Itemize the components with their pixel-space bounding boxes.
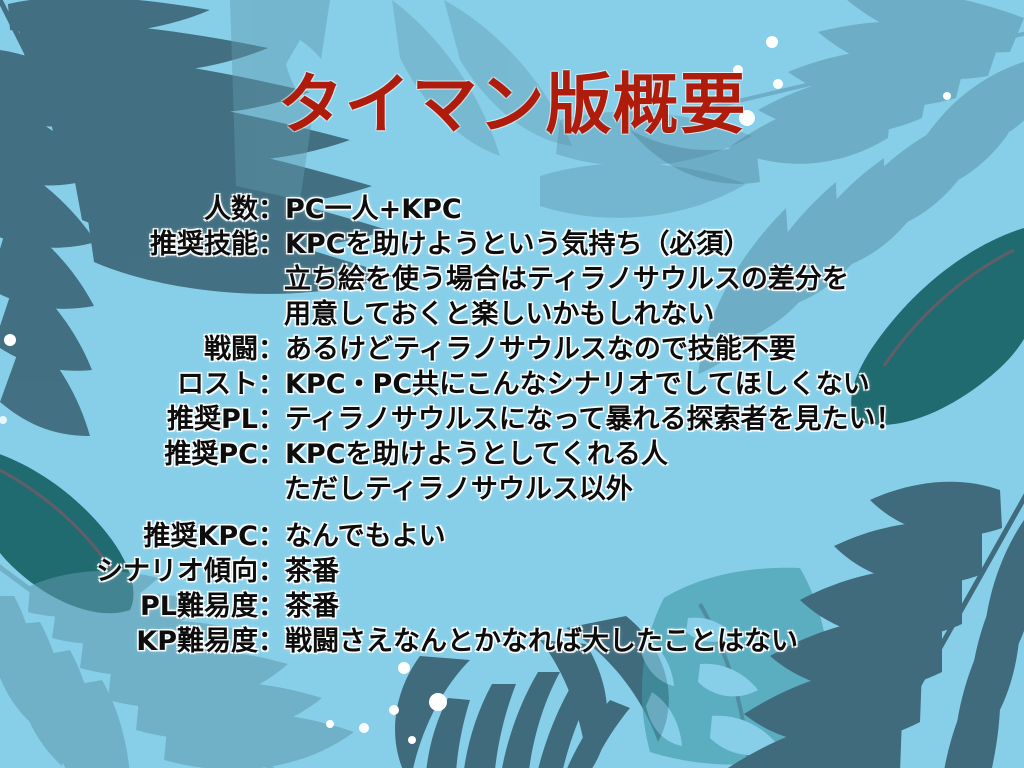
spec-colon: ： — [258, 437, 285, 472]
spec-value: KPC・PC共にこんなシナリオでしてほしくない — [285, 367, 1024, 402]
spec-value: ただしティラノサウルス以外 — [284, 472, 1024, 507]
spec-line: ロスト：KPC・PC共にこんなシナリオでしてほしくない — [0, 367, 1024, 402]
spec-label: PL難易度 — [0, 589, 258, 624]
spec-label: KP難易度 — [0, 624, 258, 659]
spec-value: なんでもよい — [285, 519, 1024, 554]
spec-line: シナリオ傾向：茶番 — [0, 554, 1024, 589]
spec-line-continuation: ただしティラノサウルス以外 — [0, 472, 1024, 507]
spec-label: シナリオ傾向 — [0, 554, 258, 589]
spec-line: 推奨PC：KPCを助けようとしてくれる人 — [0, 437, 1024, 472]
spec-label: 人数 — [0, 192, 258, 227]
spec-colon: ： — [258, 227, 285, 262]
spec-colon: ： — [258, 367, 285, 402]
spec-line: 推奨KPC：なんでもよい — [0, 519, 1024, 554]
spec-label: ロスト — [0, 367, 258, 402]
spec-value: あるけどティラノサウルスなので技能不要 — [285, 332, 1024, 367]
spec-colon: ： — [258, 624, 285, 659]
spec-label: 推奨技能 — [0, 227, 258, 262]
spec-label: 推奨PL — [0, 402, 258, 437]
spec-value: ティラノサウルスになって暴れる探索者を見たい！ — [285, 402, 1024, 437]
spec-value: 茶番 — [285, 554, 1024, 589]
spec-value: 戦闘さえなんとかなれば大したことはない — [285, 624, 1024, 659]
spec-label: 推奨KPC — [0, 519, 258, 554]
spec-line-continuation: 立ち絵を使う場合はティラノサウルスの差分を — [0, 262, 1024, 297]
spec-colon: ： — [258, 332, 285, 367]
spec-value: 立ち絵を使う場合はティラノサウルスの差分を — [284, 262, 1024, 297]
spec-line: 戦闘：あるけどティラノサウルスなので技能不要 — [0, 332, 1024, 367]
spec-colon: ： — [258, 402, 285, 437]
page-title: タイマン版概要 — [0, 72, 1024, 138]
spec-line-continuation: 用意しておくと楽しいかもしれない — [0, 297, 1024, 332]
spec-colon: ： — [258, 519, 285, 554]
spec-line: 推奨PL：ティラノサウルスになって暴れる探索者を見たい！ — [0, 402, 1024, 437]
spec-colon: ： — [258, 554, 285, 589]
spec-colon: ： — [258, 589, 285, 624]
spec-label: 推奨PC — [0, 437, 258, 472]
spec-line: 人数：PC一人+KPC — [0, 192, 1024, 227]
spec-line: KP難易度：戦闘さえなんとかなれば大したことはない — [0, 624, 1024, 659]
slide-body-list: 人数：PC一人+KPC推奨技能：KPCを助けようという気持ち（必須）立ち絵を使う… — [0, 192, 1024, 659]
presentation-slide: タイマン版概要 人数：PC一人+KPC推奨技能：KPCを助けようという気持ち（必… — [0, 0, 1024, 768]
spec-line: 推奨技能：KPCを助けようという気持ち（必須） — [0, 227, 1024, 262]
spec-value: 用意しておくと楽しいかもしれない — [284, 297, 1024, 332]
spec-value: KPCを助けようとしてくれる人 — [285, 437, 1024, 472]
spec-value: PC一人+KPC — [285, 192, 1024, 227]
spec-value: 茶番 — [285, 589, 1024, 624]
spec-line: PL難易度：茶番 — [0, 589, 1024, 624]
spec-value: KPCを助けようという気持ち（必須） — [285, 227, 1024, 262]
spec-label: 戦闘 — [0, 332, 258, 367]
spec-colon: ： — [258, 192, 285, 227]
